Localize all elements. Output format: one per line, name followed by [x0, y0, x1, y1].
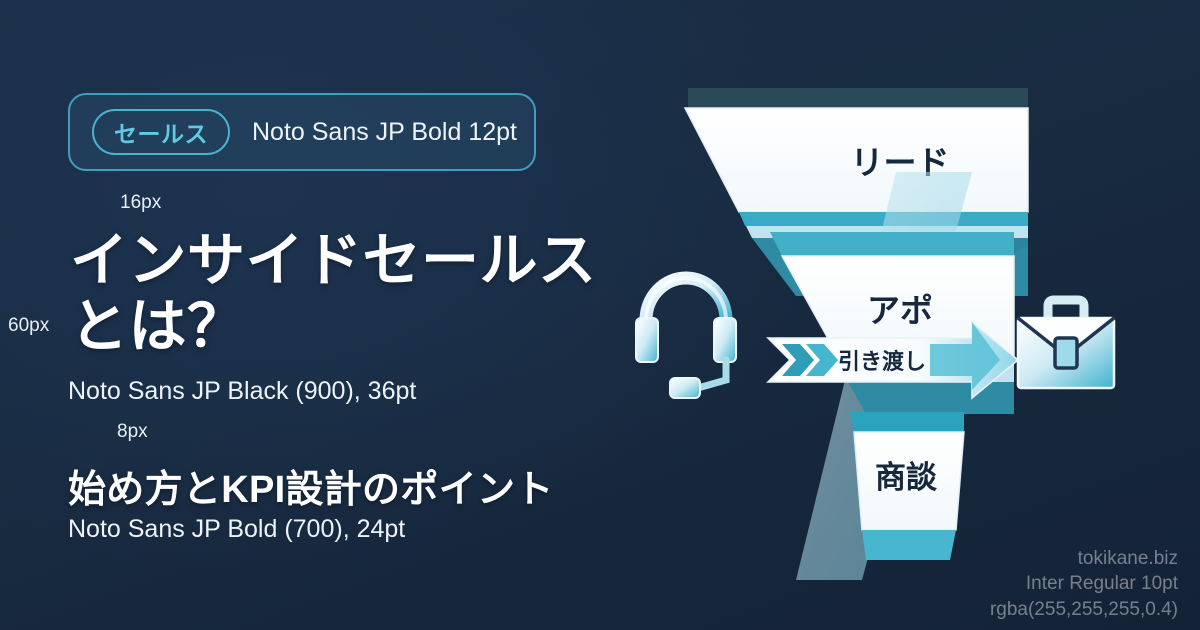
briefcase-latch: [1055, 338, 1077, 368]
funnel-stage-negotiation-label: 商談: [875, 460, 938, 495]
briefcase-icon: [1018, 300, 1114, 388]
left-text-column: セールス Noto Sans JP Bold 12pt 16px 60px 8p…: [0, 0, 620, 630]
sales-funnel-graphic: リード アポ 商談: [600, 60, 1200, 580]
spacing-annotation-60: 60px: [8, 315, 49, 337]
handoff-arrow-label: 引き渡し: [838, 349, 926, 374]
headset-mic-tip: [670, 378, 700, 398]
headset-earcup-right: [714, 318, 736, 362]
funnel-top-band: [688, 88, 1028, 108]
funnel-stage-negotiation-base: [862, 530, 956, 560]
funnel-stage-negotiation-cap: [850, 412, 964, 432]
page-title-line-1: インサイドセールス: [70, 228, 610, 294]
badge-font-note: Noto Sans JP Bold 12pt: [252, 118, 517, 147]
funnel-stage-negotiation: 商談: [850, 412, 964, 560]
spacing-annotation-16: 16px: [120, 192, 161, 214]
headline-font-note: Noto Sans JP Black (900), 36pt: [68, 377, 416, 406]
page-title: インサイドセールス とは？: [70, 228, 610, 359]
headset-icon: [636, 278, 736, 398]
category-badge-bar: セールス Noto Sans JP Bold 12pt: [68, 93, 536, 171]
subheadline-font-note: Noto Sans JP Bold (700), 24pt: [68, 515, 405, 544]
category-badge-label: セールス: [114, 115, 208, 149]
funnel-stage-appointment-cap: [770, 232, 1014, 256]
headset-band: [646, 278, 726, 320]
credit-color-note: rgba(255,255,255,0.4): [990, 597, 1178, 622]
page-title-line-2: とは？: [70, 294, 610, 360]
page-subtitle: 始め方とKPI設計のポイント: [68, 458, 554, 513]
spacing-annotation-8: 8px: [117, 421, 148, 443]
funnel-connector-2: [848, 382, 1014, 414]
category-badge-pill: セールス: [92, 109, 230, 155]
og-image-canvas: セールス Noto Sans JP Bold 12pt 16px 60px 8p…: [0, 0, 1200, 630]
briefcase-handle: [1048, 300, 1084, 318]
funnel-stage-appointment-label: アポ: [867, 292, 933, 329]
headset-mic-boom: [698, 360, 726, 388]
funnel-stage-lead: リード: [685, 88, 1028, 238]
headset-earcup-left: [636, 318, 658, 362]
